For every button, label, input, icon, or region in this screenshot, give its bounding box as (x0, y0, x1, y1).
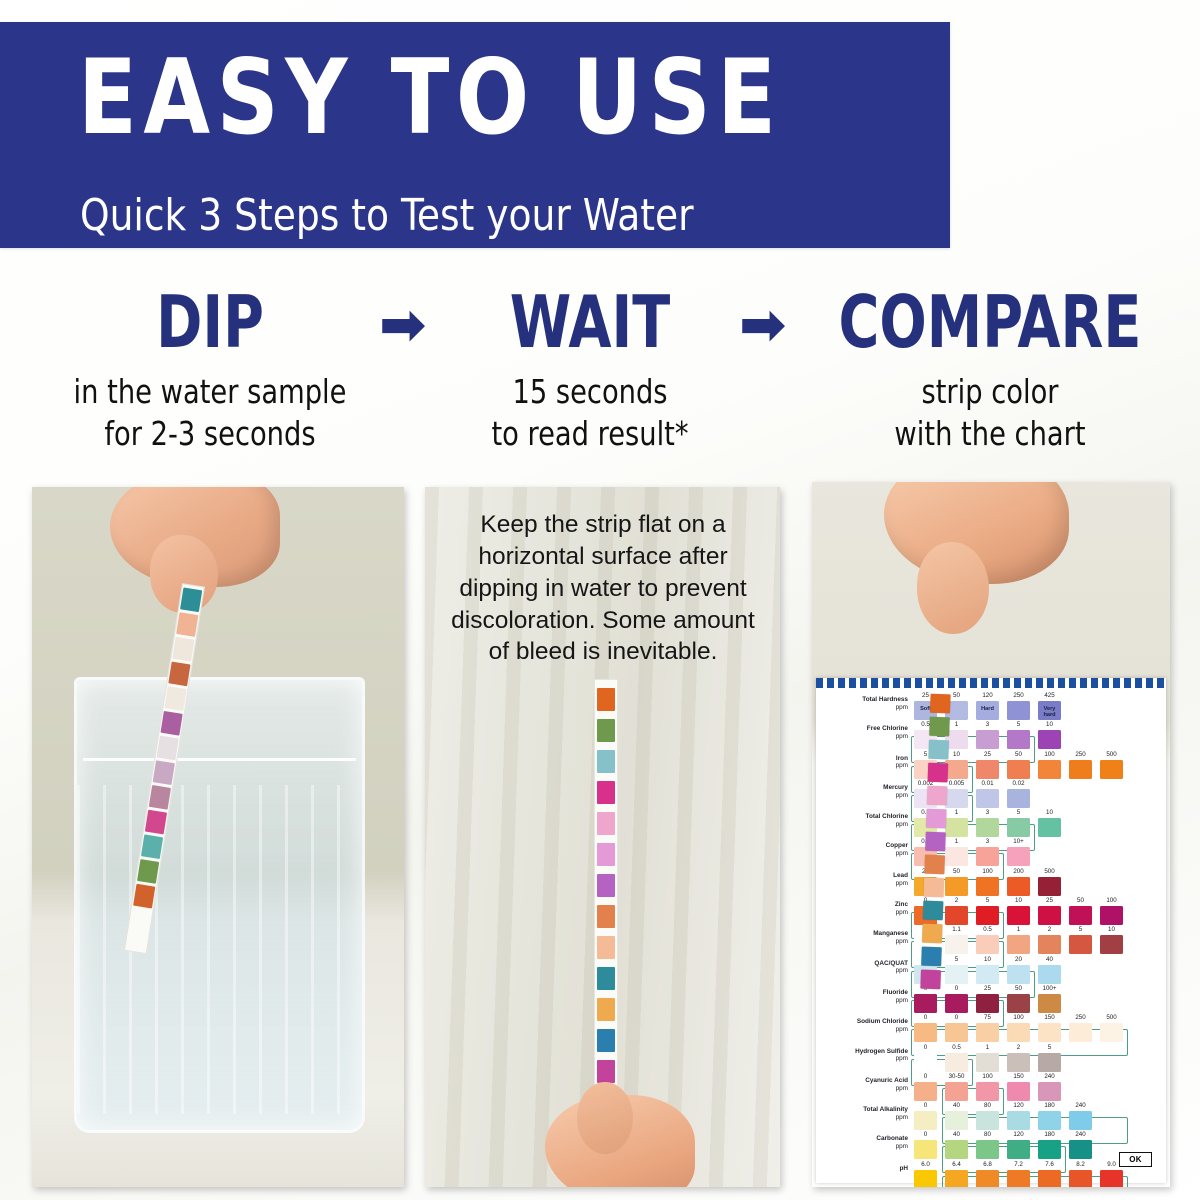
analyte-unit: ppm (816, 880, 908, 888)
strip-pad-12 (597, 1060, 615, 1083)
analyte-unit: ppm (816, 733, 908, 741)
chart-value-label: 50 (1007, 751, 1030, 758)
chart-swatch[interactable] (1038, 730, 1061, 749)
chart-row: Total Chlorineppm0.513510 (816, 809, 1166, 838)
strip-pad-1 (597, 719, 615, 742)
chart-swatch[interactable] (1007, 730, 1030, 749)
step-wait-word: WAIT (461, 286, 719, 358)
steps-row: DIP in the water sample for 2-3 seconds … (0, 270, 1200, 465)
analyte-unit: ppm (816, 821, 908, 829)
strip-pad-7 (153, 760, 175, 785)
chart-value-label: 250 (1069, 1014, 1092, 1021)
chart-value-label: 10 (1038, 809, 1061, 816)
chart-row: Total Alkalinityppm04080120180240 (816, 1102, 1166, 1131)
chart-swatch[interactable] (1007, 701, 1030, 720)
analyte-name: Mercury (816, 784, 908, 792)
step-dip-word: DIP (55, 286, 365, 358)
step-wait: WAIT 15 seconds to read result* (440, 286, 740, 455)
chart-swatch[interactable] (945, 847, 968, 866)
step-compare: COMPARE strip color with the chart (800, 286, 1180, 455)
strip-pad-10 (922, 924, 943, 944)
chart-row: Cyanuric Acidppm030-50100150240 (816, 1073, 1166, 1102)
chart-row: Mercuryppm0.0020.0050.010.02 (816, 780, 1166, 809)
chart-swatch[interactable] (1007, 818, 1030, 837)
chart-swatch[interactable] (1007, 994, 1030, 1013)
chart-swatch[interactable] (945, 789, 968, 808)
ok-button[interactable]: OK (1119, 1152, 1152, 1167)
chart-swatch[interactable] (945, 1170, 968, 1187)
chart-swatch[interactable] (1007, 789, 1030, 808)
chart-value-label: 6.8 (976, 1161, 999, 1168)
analyte-name: Fluoride (816, 989, 908, 997)
analyte-unit: ppm (816, 762, 908, 770)
chart-swatch[interactable] (945, 935, 968, 954)
chart-swatch[interactable] (976, 994, 999, 1013)
chart-swatch[interactable] (1038, 1023, 1061, 1042)
chart-value-label: 250 (1007, 692, 1030, 699)
chart-row-label: Total Hardnessppm (816, 696, 908, 712)
chart-row: pH6.06.46.87.27.68.29.0 (816, 1161, 1166, 1187)
chart-swatch[interactable] (945, 994, 968, 1013)
chart-value-label: 2 (1038, 926, 1061, 933)
photo-panel-dip (32, 487, 404, 1187)
step-dip-line1: in the water sample (44, 372, 375, 412)
chart-value-label: 425 (1038, 692, 1061, 699)
analyte-unit: ppm (816, 1143, 908, 1151)
chart-value-label: 0 (945, 1014, 968, 1021)
chart-value-label: 500 (1100, 1014, 1123, 1021)
chart-swatch[interactable] (1069, 906, 1092, 925)
analyte-name: Lead (816, 872, 908, 880)
chart-value-label: 150 (1007, 1073, 1030, 1080)
chart-rows: Total Hardnessppm25Soft50120Hard250425Ve… (816, 692, 1166, 1187)
chart-swatch[interactable] (976, 906, 999, 925)
chart-swatch[interactable] (1038, 1053, 1061, 1072)
strip-pad-7 (597, 905, 615, 928)
chart-value-label: 240 (1069, 1102, 1092, 1109)
strip-pad-1 (176, 612, 198, 637)
chart-value-label: 150 (1038, 1014, 1061, 1021)
strip-pad-2 (597, 750, 615, 773)
chart-row-label: Total Chlorineppm (816, 813, 908, 829)
chart-swatch[interactable] (945, 1111, 968, 1130)
analyte-name: Manganese (816, 930, 908, 938)
chart-swatch[interactable] (1038, 818, 1061, 837)
chart-swatch[interactable] (1007, 877, 1030, 896)
strip-pad-11 (597, 1029, 615, 1052)
strip-pad-10 (597, 998, 615, 1021)
chart-row: Hydrogen Sulfideppm00.5125 (816, 1044, 1166, 1073)
chart-value-label: 120 (976, 692, 999, 699)
chart-swatch[interactable] (1038, 1140, 1061, 1159)
chart-value-label: 100 (1038, 751, 1061, 758)
analyte-name: Free Chlorine (816, 725, 908, 733)
strip-pad-3 (168, 662, 190, 687)
strip-pad-9 (923, 901, 944, 921)
strip-pad-8 (924, 878, 945, 898)
test-strip-flat (594, 679, 618, 1151)
chart-row-label: Leadppm (816, 872, 908, 888)
thumb (577, 1082, 633, 1154)
chart-swatch[interactable] (945, 1023, 968, 1042)
chart-swatch[interactable] (1007, 1111, 1030, 1130)
photo-panel-compare: Total Hardnessppm25Soft50120Hard250425Ve… (812, 482, 1170, 1187)
strip-pad-2 (928, 740, 949, 760)
analyte-unit: ppm (816, 909, 908, 917)
chart-swatch[interactable] (1007, 1053, 1030, 1072)
header-banner: EASY TO USE Quick 3 Steps to Test your W… (0, 22, 950, 248)
strip-pad-5 (597, 843, 615, 866)
chart-value-label: 240 (1069, 1131, 1092, 1138)
page-root: EASY TO USE Quick 3 Steps to Test your W… (0, 0, 1200, 1200)
chart-row: Ironppm5102550100250500 (816, 751, 1166, 780)
chart-swatch[interactable] (1069, 1170, 1092, 1187)
chart-value-label: 180 (1038, 1102, 1061, 1109)
chart-swatch[interactable] (1038, 1111, 1061, 1130)
analyte-name: Hydrogen Sulfide (816, 1048, 908, 1056)
chart-swatch[interactable] (976, 877, 999, 896)
chart-row-label: pH (816, 1165, 908, 1173)
chart-value-label: 3 (976, 809, 999, 816)
chart-top-border (816, 678, 1166, 688)
chart-row-label: Total Alkalinityppm (816, 1106, 908, 1122)
chart-value-label: 10+ (1007, 838, 1030, 845)
chart-swatch[interactable] (1069, 760, 1092, 779)
chart-swatch[interactable] (1038, 965, 1061, 984)
chart-row: Copperppm0.41310+ (816, 838, 1166, 867)
chart-row-label: Free Chlorineppm (816, 725, 908, 741)
thumb (917, 542, 989, 634)
chart-value-label: 100 (976, 868, 999, 875)
chart-value-label: 25 (1038, 897, 1061, 904)
strip-pad-7 (924, 855, 945, 875)
chart-row-label: Hydrogen Sulfideppm (816, 1048, 908, 1064)
strip-pad-4 (164, 686, 186, 711)
chart-value-label: 80 (976, 1102, 999, 1109)
strip-pad-6 (157, 736, 179, 761)
chart-row-label: Ironppm (816, 755, 908, 771)
strip-pad-0 (930, 694, 951, 714)
chart-value-label: 20 (1007, 956, 1030, 963)
chart-swatch[interactable] (1100, 1023, 1123, 1042)
analyte-name: Copper (816, 842, 908, 850)
chart-row-label: Carbonateppm (816, 1135, 908, 1151)
chart-value-label: 1 (1007, 926, 1030, 933)
strip-pad-6 (597, 874, 615, 897)
chart-row-label: Cyanuric Acidppm (816, 1077, 908, 1093)
chart-row-label: Zincppm (816, 901, 908, 917)
chart-value-label: 180 (1038, 1131, 1061, 1138)
chart-value-label: 75 (976, 1014, 999, 1021)
chart-swatch[interactable] (976, 760, 999, 779)
glass-flutes (77, 785, 362, 1114)
strip-pad-12 (920, 970, 941, 990)
chart-value-label: 1 (976, 1044, 999, 1051)
analyte-unit: ppm (816, 938, 908, 946)
strip-pad-11 (921, 947, 942, 967)
chart-value-label: 0 (914, 1131, 937, 1138)
analyte-name: Total Hardness (816, 696, 908, 704)
chart-value-label: 120 (1007, 1131, 1030, 1138)
chart-swatch[interactable] (1069, 1023, 1092, 1042)
chart-swatch[interactable] (1038, 935, 1061, 954)
chart-swatch[interactable] (945, 965, 968, 984)
chart-swatch[interactable] (945, 1140, 968, 1159)
chart-row: Fluorideppm002550100+ (816, 985, 1166, 1014)
chart-value-label: 10 (976, 956, 999, 963)
strip-pad-11 (137, 859, 159, 884)
strip-pad-2 (172, 637, 194, 662)
analyte-name: Carbonate (816, 1135, 908, 1143)
chart-value-label: 5 (1007, 809, 1030, 816)
chart-value-label: 50 (945, 868, 968, 875)
strip-pad-5 (160, 711, 182, 736)
water-glass (74, 677, 365, 1133)
chart-value-label: 1 (945, 809, 968, 816)
chart-swatch[interactable] (914, 1082, 937, 1101)
strip-pad-10 (141, 834, 163, 859)
strip-pad-3 (928, 763, 949, 783)
chart-row: QAC/QUATppm05102040 (816, 956, 1166, 985)
analyte-name: Sodium Chloride (816, 1018, 908, 1026)
step-dip: DIP in the water sample for 2-3 seconds (30, 286, 390, 455)
chart-swatch[interactable] (1038, 1082, 1061, 1101)
chart-row-label: QAC/QUATppm (816, 960, 908, 976)
color-comparison-chart: Total Hardnessppm25Soft50120Hard250425Ve… (816, 678, 1166, 1183)
chart-value-label: 240 (1038, 1073, 1061, 1080)
chart-row: Sodium Chlorideppm0075100150250500 (816, 1014, 1166, 1043)
chart-value-label: 100 (1100, 897, 1123, 904)
analyte-unit: ppm (816, 792, 908, 800)
chart-value-label: 2 (1007, 1044, 1030, 1051)
chart-swatch[interactable] (1007, 935, 1030, 954)
chart-value-label: 100+ (1038, 985, 1061, 992)
strip-pad-8 (149, 785, 171, 810)
strip-pad-0 (180, 587, 202, 612)
chart-swatch[interactable] (945, 1082, 968, 1101)
chart-value-label: 0 (945, 985, 968, 992)
step-compare-line1: strip color (815, 372, 1165, 412)
chart-value-label: 0 (914, 1073, 937, 1080)
chart-swatch[interactable] (976, 965, 999, 984)
chart-swatch[interactable] (1007, 906, 1030, 925)
chart-value-label: 0.5 (945, 1044, 968, 1051)
analyte-unit: ppm (816, 967, 908, 975)
chart-row: Leadppm2050100200500 (816, 868, 1166, 897)
chart-value-label: 50 (1007, 985, 1030, 992)
chart-swatch[interactable] (1038, 877, 1061, 896)
chart-value-label: 40 (945, 1131, 968, 1138)
step-wait-line1: 15 seconds (452, 372, 728, 412)
chart-swatch[interactable] (1038, 906, 1061, 925)
chart-row-label: Manganeseppm (816, 930, 908, 946)
analyte-unit: ppm (816, 1026, 908, 1034)
chart-value-label: 40 (945, 1102, 968, 1109)
chart-value-label: 100 (976, 1073, 999, 1080)
chart-value-label: 500 (1038, 868, 1061, 875)
analyte-unit: ppm (816, 1055, 908, 1063)
chart-value-label: 0.5 (976, 926, 999, 933)
strip-pad-3 (597, 781, 615, 804)
arrow-right-icon-2: ➡ (740, 298, 785, 352)
chart-swatch[interactable] (914, 1023, 937, 1042)
chart-value-label: 8.2 (1069, 1161, 1092, 1168)
chart-value-label: 25 (976, 751, 999, 758)
page-subtitle: Quick 3 Steps to Test your Water (80, 190, 694, 241)
chart-row: Total Hardnessppm25Soft50120Hard250425Ve… (816, 692, 1166, 721)
chart-swatch[interactable] (976, 789, 999, 808)
chart-swatch[interactable] (976, 935, 999, 954)
analyte-unit: ppm (816, 704, 908, 712)
chart-swatch[interactable] (1038, 994, 1061, 1013)
chart-swatch[interactable] (914, 1170, 937, 1187)
strip-pad-4 (597, 812, 615, 835)
chart-value-label: 6.0 (914, 1161, 937, 1168)
chart-value-label: 3 (976, 838, 999, 845)
chart-value-label: 5 (1038, 1044, 1061, 1051)
chart-value-label: 50 (1069, 897, 1092, 904)
chart-value-label: 10 (1007, 897, 1030, 904)
wait-note-text: Keep the strip flat on a horizontal surf… (443, 509, 763, 668)
analyte-name: Iron (816, 755, 908, 763)
chart-row: Zincppm025102550100 (816, 897, 1166, 926)
chart-row-label: Copperppm (816, 842, 908, 858)
chart-row-label: Sodium Chlorideppm (816, 1018, 908, 1034)
chart-value-label: 5 (1069, 926, 1092, 933)
chart-swatch[interactable] (1100, 935, 1123, 954)
strip-pad-12 (133, 884, 155, 909)
chart-swatch[interactable] (1007, 847, 1030, 866)
chart-swatch[interactable] (1007, 1082, 1030, 1101)
analyte-name: pH (816, 1165, 908, 1173)
step-wait-line2: to read result* (452, 414, 728, 454)
chart-swatch[interactable] (976, 1023, 999, 1042)
chart-swatch[interactable] (914, 1053, 937, 1072)
chart-value-label: 500 (1100, 751, 1123, 758)
chart-swatch[interactable] (1007, 1140, 1030, 1159)
chart-value-label: 5 (976, 897, 999, 904)
strip-pad-4 (927, 786, 948, 806)
analyte-name: Total Chlorine (816, 813, 908, 821)
chart-value-label: 10 (1038, 721, 1061, 728)
chart-value-label: 7.2 (1007, 1161, 1030, 1168)
chart-value-label: 5 (1007, 721, 1030, 728)
chart-swatch[interactable] (976, 1140, 999, 1159)
chart-row-label: Fluorideppm (816, 989, 908, 1005)
chart-swatch[interactable] (1100, 1170, 1123, 1187)
chart-swatch[interactable] (945, 818, 968, 837)
analyte-name: QAC/QUAT (816, 960, 908, 968)
strip-pad-6 (925, 832, 946, 852)
chart-value-label: 250 (1069, 751, 1092, 758)
chart-row: Free Chlorineppm0.513510 (816, 721, 1166, 750)
chart-swatch[interactable] (1100, 760, 1123, 779)
chart-value-label: 0.02 (1007, 780, 1030, 787)
chart-row: Manganeseppm01.10.512510 (816, 926, 1166, 955)
chart-swatch[interactable] (1038, 760, 1061, 779)
chart-swatch[interactable] (976, 1170, 999, 1187)
chart-swatch[interactable] (1038, 1170, 1061, 1187)
chart-value-label: 10 (1100, 926, 1123, 933)
chart-value-label: 100 (1007, 1014, 1030, 1021)
chart-swatch[interactable] (976, 1082, 999, 1101)
analyte-unit: ppm (816, 1085, 908, 1093)
chart-swatch[interactable] (976, 730, 999, 749)
chart-swatch[interactable] (1007, 760, 1030, 779)
chart-swatch[interactable] (945, 877, 968, 896)
analyte-name: Total Alkalinity (816, 1106, 908, 1114)
chart-swatch[interactable] (1100, 906, 1123, 925)
strip-pad-8 (597, 936, 615, 959)
chart-swatch[interactable] (976, 847, 999, 866)
analyte-unit: ppm (816, 850, 908, 858)
chart-swatch-text: Very hard (1038, 706, 1061, 718)
analyte-unit: ppm (816, 997, 908, 1005)
chart-value-label: 2 (945, 897, 968, 904)
chart-value-label: 3 (976, 721, 999, 728)
chart-value-label: 7.6 (1038, 1161, 1061, 1168)
analyte-name: Cyanuric Acid (816, 1077, 908, 1085)
chart-swatch[interactable] (1007, 1023, 1030, 1042)
chart-row-label: Mercuryppm (816, 784, 908, 800)
step-compare-line2: with the chart (815, 414, 1165, 454)
chart-swatch[interactable] (1069, 1140, 1092, 1159)
chart-value-label: 120 (1007, 1102, 1030, 1109)
chart-swatch[interactable] (1069, 1111, 1092, 1130)
chart-value-label: 1.1 (945, 926, 968, 933)
chart-value-label: 30-50 (945, 1073, 968, 1080)
chart-swatch[interactable] (976, 818, 999, 837)
chart-value-label: 25 (976, 985, 999, 992)
chart-swatch[interactable] (976, 1053, 999, 1072)
chart-swatch-text: Hard (976, 706, 999, 712)
chart-value-label: 0 (914, 1044, 937, 1051)
chart-value-label: 0 (914, 1102, 937, 1109)
chart-swatch[interactable] (914, 1140, 937, 1159)
step-compare-word: COMPARE (827, 286, 1154, 358)
strip-pad-5 (926, 809, 947, 829)
strip-pad-1 (929, 717, 950, 737)
chart-swatch[interactable] (1007, 1170, 1030, 1187)
chart-row: Carbonateppm04080120180240 (816, 1131, 1166, 1160)
chart-swatch[interactable] (976, 1111, 999, 1130)
chart-swatch[interactable] (945, 906, 968, 925)
chart-swatch[interactable] (945, 1053, 968, 1072)
chart-swatch[interactable] (1069, 935, 1092, 954)
strip-pad-0 (597, 688, 615, 711)
chart-value-label: 40 (1038, 956, 1061, 963)
chart-swatch[interactable] (914, 1111, 937, 1130)
analyte-name: Zinc (816, 901, 908, 909)
arrow-right-icon-1: ➡ (380, 298, 425, 352)
chart-value-label: 6.4 (945, 1161, 968, 1168)
strip-pad-9 (597, 967, 615, 990)
strip-pad-9 (145, 810, 167, 835)
page-title: EASY TO USE (78, 50, 783, 147)
chart-value-label: 1 (945, 838, 968, 845)
chart-value-label: 200 (1007, 868, 1030, 875)
chart-value-label: 80 (976, 1131, 999, 1138)
chart-swatch[interactable] (1007, 965, 1030, 984)
photo-panel-wait: Keep the strip flat on a horizontal surf… (425, 487, 780, 1187)
chart-value-label: 5 (945, 956, 968, 963)
chart-value-label: 0.01 (976, 780, 999, 787)
step-dip-line2: for 2-3 seconds (44, 414, 375, 454)
analyte-unit: ppm (816, 1114, 908, 1122)
